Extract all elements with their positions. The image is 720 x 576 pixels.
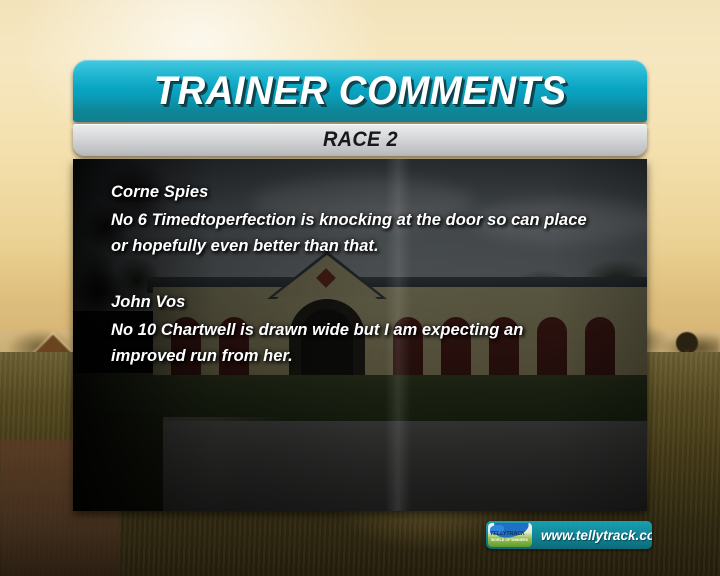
stable-photo-panel: Corne Spies No 6 Timedtoperfection is kn… [73,159,647,511]
trainer-comment-line: No 6 Timedtoperfection is knocking at th… [111,207,633,233]
tellytrack-logo-icon: TELLYTRACK WORLD OF WINNERS [488,523,532,547]
race-subtitle-bar: RACE 2 [73,124,647,156]
logo-tagline: WORLD OF WINNERS [491,539,531,542]
logo-wordmark: TELLYTRACK [490,532,530,538]
race-label: RACE 2 [323,128,398,152]
tellytrack-watermark[interactable]: TELLYTRACK WORLD OF WINNERS www.tellytra… [486,521,652,549]
card-title-bar: TRAINER COMMENTS [73,60,647,122]
trainer-comment-item: John Vos No 10 Chartwell is drawn wide b… [111,293,633,369]
trainer-comments-list: Corne Spies No 6 Timedtoperfection is kn… [111,183,633,369]
trainer-comment-line: No 10 Chartwell is drawn wide but I am e… [111,317,633,343]
page-title: TRAINER COMMENTS [153,69,566,114]
trainer-comment-line: improved run from her. [111,343,633,369]
trainer-comments-card: TRAINER COMMENTS RACE 2 Corne Sp [73,60,647,512]
trainer-comment-item: Corne Spies No 6 Timedtoperfection is kn… [111,183,633,259]
trainer-name: Corne Spies [111,183,633,202]
trainer-name: John Vos [111,293,633,312]
watermark-url[interactable]: www.tellytrack.com [541,527,652,543]
trainer-comment-line: or hopefully even better than that. [111,233,633,259]
